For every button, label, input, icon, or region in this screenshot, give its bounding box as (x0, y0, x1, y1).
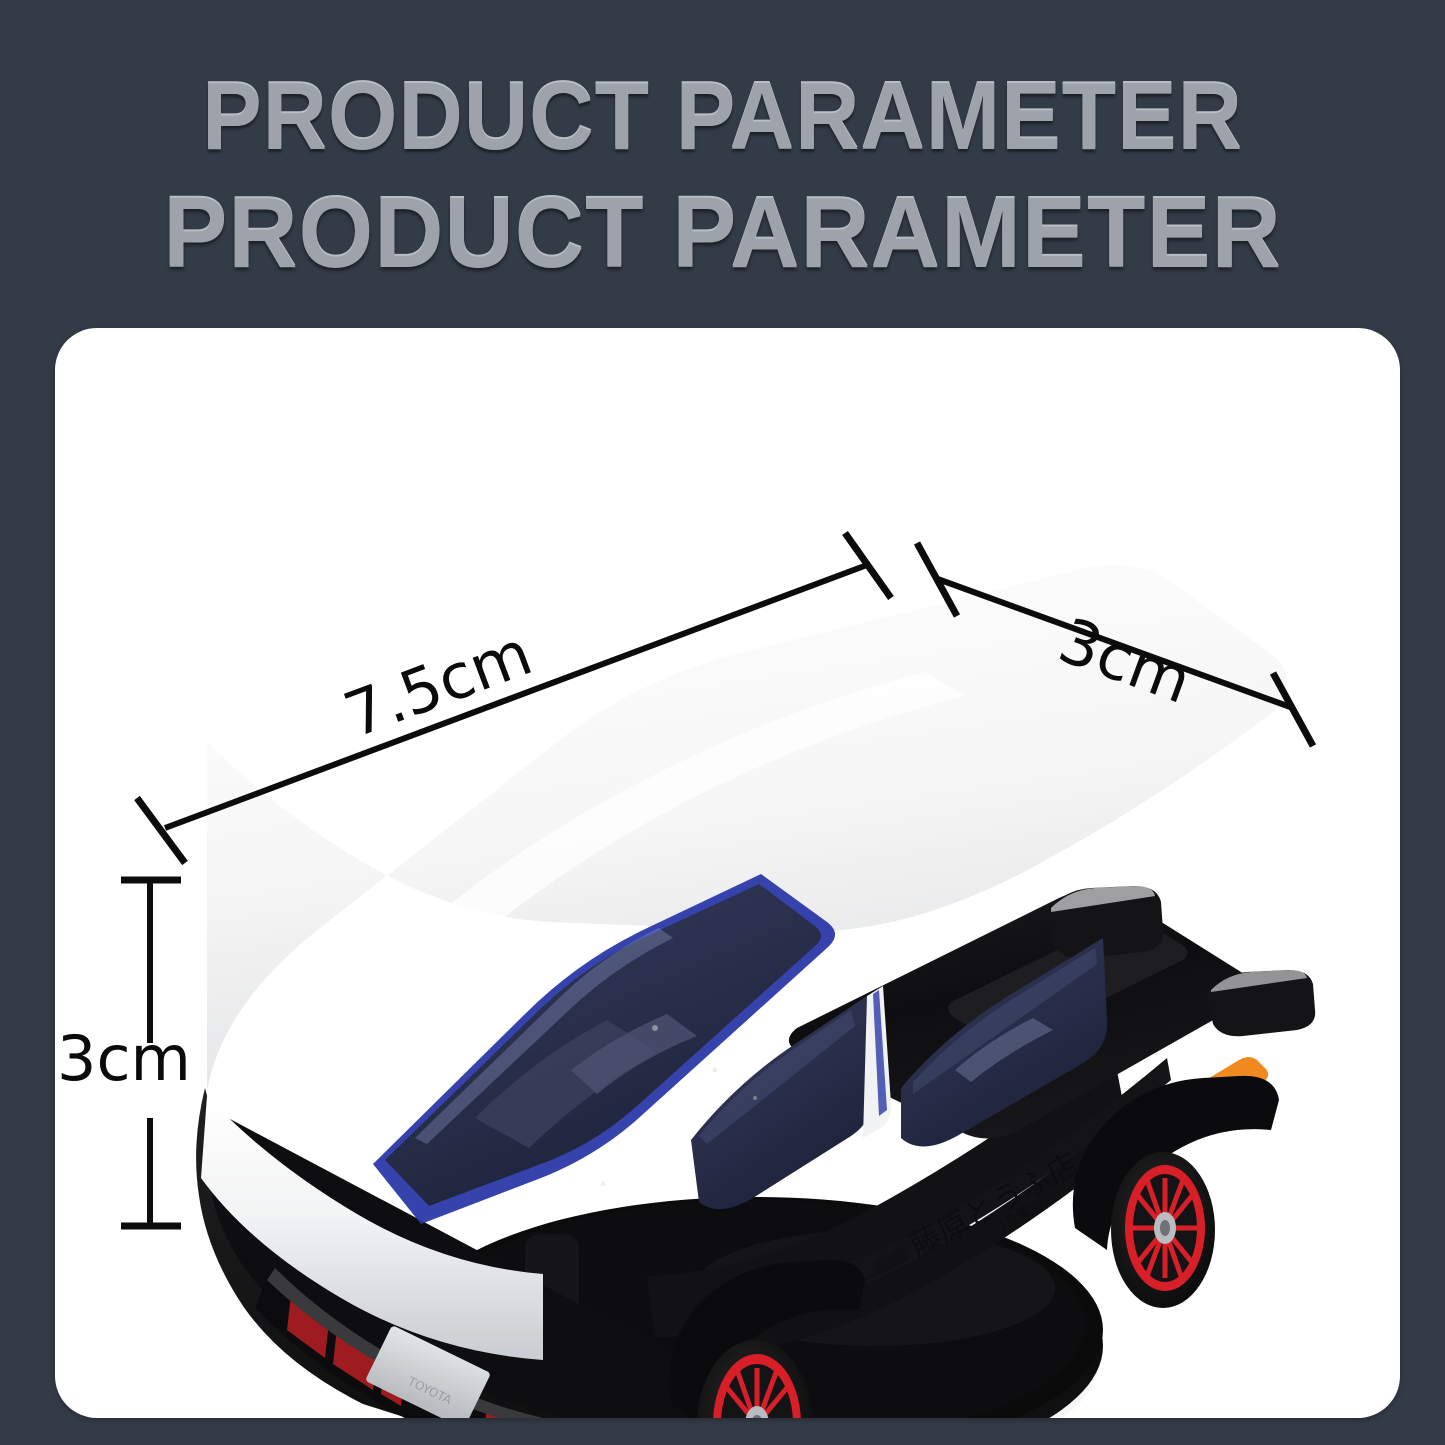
infographic-canvas: PRODUCT PARAMETER PRODUCT PARAMETER (0, 0, 1445, 1445)
product-photo-card: 藤原とうふ店 (自家用) (55, 328, 1400, 1418)
product-photo: 藤原とうふ店 (自家用) (55, 328, 1400, 1418)
toy-car: 藤原とうふ店 (自家用) (196, 565, 1315, 1418)
page-title-line-2: PRODUCT PARAMETER (29, 176, 1416, 291)
page-title-line-1: PRODUCT PARAMETER (51, 62, 1395, 172)
